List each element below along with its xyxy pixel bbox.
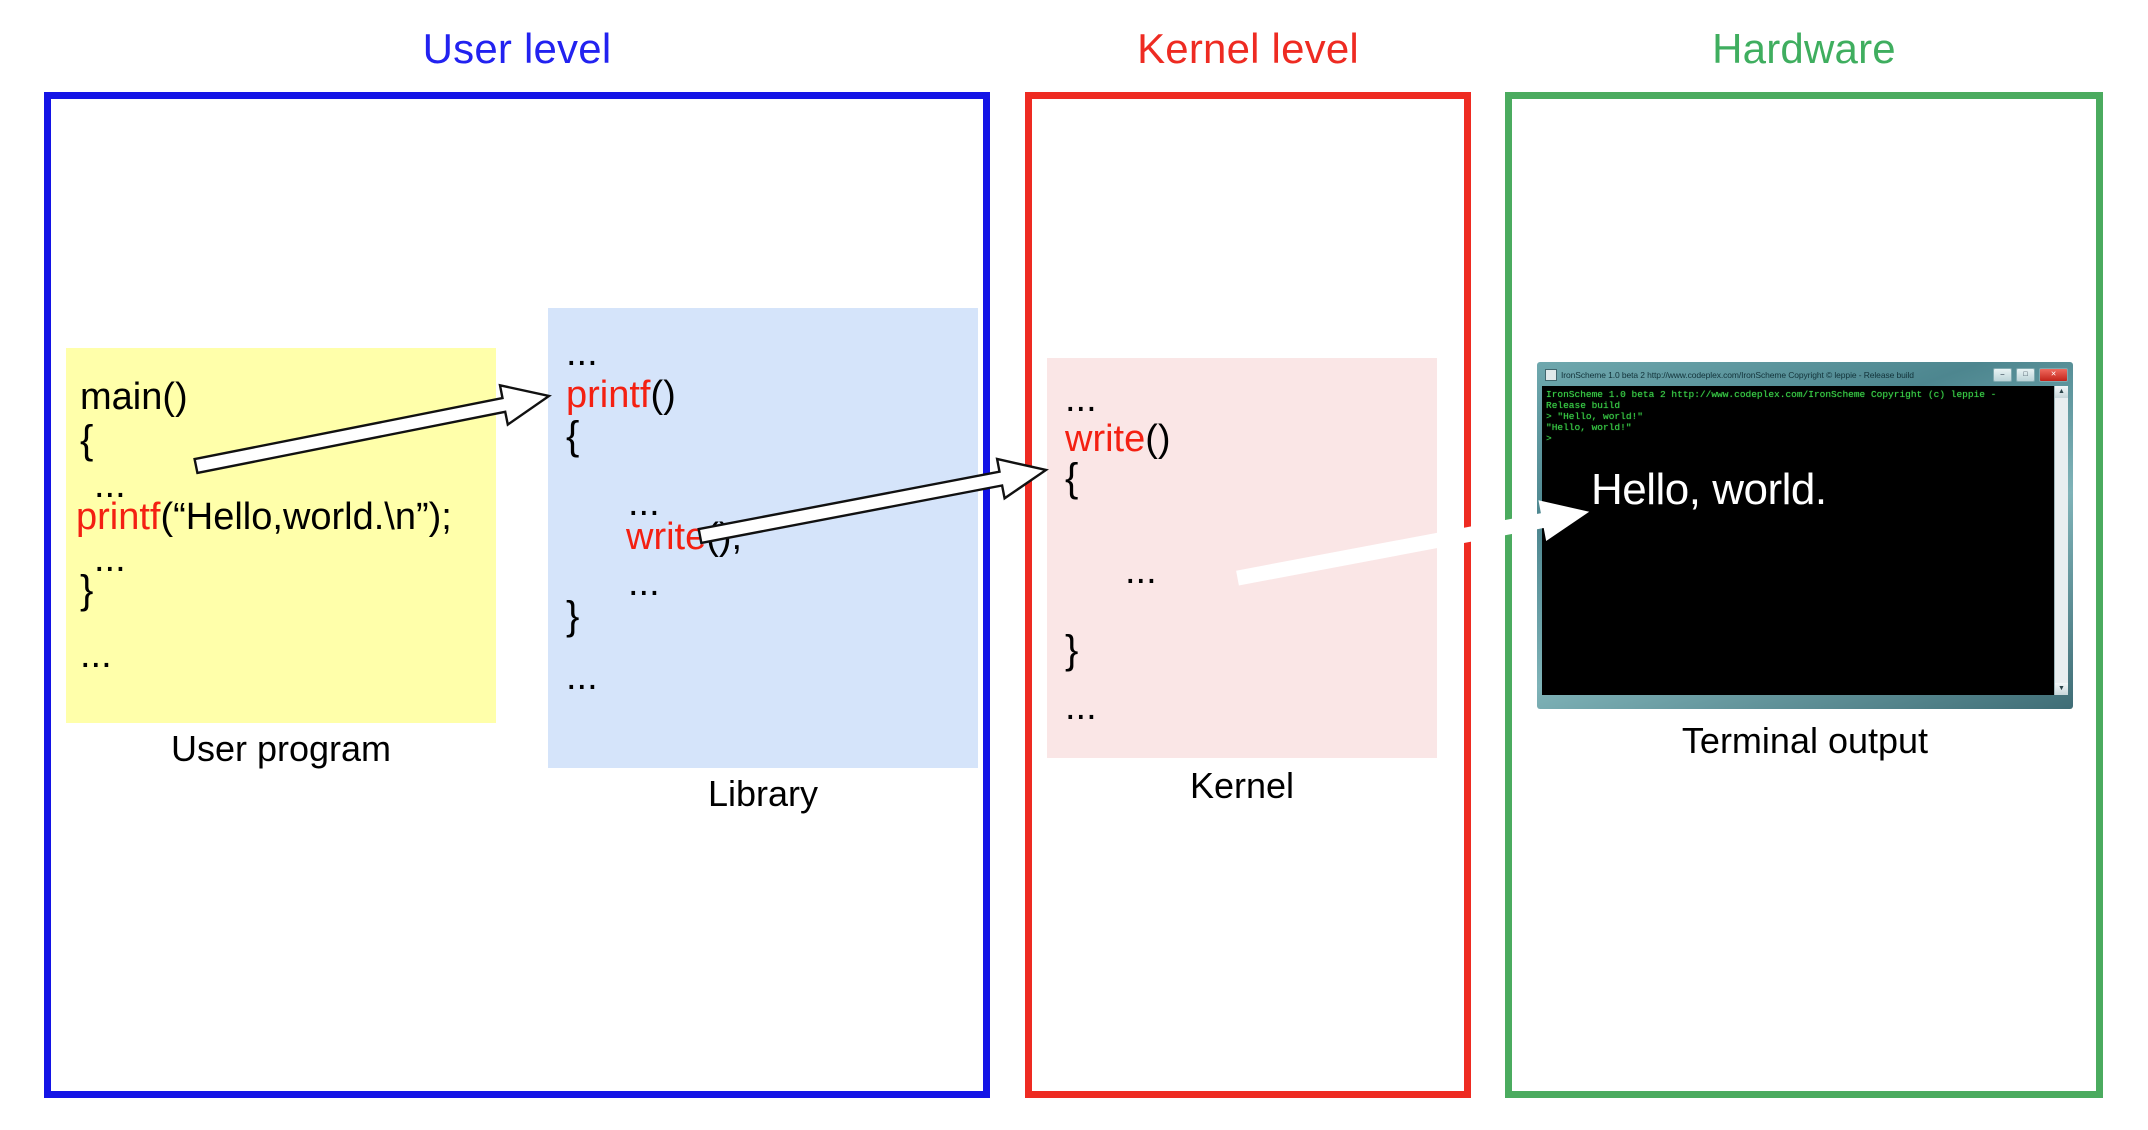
code-line: { xyxy=(80,420,93,460)
keyword-printf: printf xyxy=(76,496,160,538)
terminal-line: > xyxy=(1546,433,2050,444)
code-line: ... xyxy=(94,540,126,578)
code-line-write-def: write() xyxy=(1065,420,1171,458)
library-code-panel: ... printf() { ... write(); ... } ... xyxy=(548,308,978,768)
scroll-up-icon[interactable]: ▲ xyxy=(2055,386,2068,398)
section-title-user-level: User level xyxy=(44,28,990,70)
code-line: ... xyxy=(628,564,660,602)
terminal-line: IronScheme 1.0 beta 2 http://www.codeple… xyxy=(1546,389,2050,400)
section-title-kernel-level: Kernel level xyxy=(1025,28,1471,70)
kernel-code-panel: ... write() { ... } ... xyxy=(1047,358,1437,758)
terminal-app-icon xyxy=(1545,369,1557,381)
terminal-window-title: IronScheme 1.0 beta 2 http://www.codeple… xyxy=(1561,370,1989,380)
terminal-window-screenshot: IronScheme 1.0 beta 2 http://www.codeple… xyxy=(1537,362,2073,709)
close-button[interactable]: ✕ xyxy=(2039,368,2068,382)
code-line: { xyxy=(566,416,579,456)
kernel-label: Kernel xyxy=(1047,768,1437,804)
code-line-printf-def: printf() xyxy=(566,376,676,414)
code-line-write-call: write(); xyxy=(626,518,742,556)
code-line: } xyxy=(1065,630,1078,670)
code-line: ... xyxy=(566,334,598,372)
code-line-printf-call: printf(“Hello,world.\n”); xyxy=(76,498,452,536)
code-line: } xyxy=(566,596,579,636)
code-line: ... xyxy=(566,658,598,696)
minimize-button[interactable]: – xyxy=(1993,368,2012,382)
code-line: } xyxy=(80,570,93,610)
terminal-line: Release build xyxy=(1546,400,2050,411)
terminal-output-label: Terminal output xyxy=(1537,723,2073,759)
section-title-hardware: Hardware xyxy=(1505,28,2103,70)
library-label: Library xyxy=(548,776,978,812)
terminal-text-area: IronScheme 1.0 beta 2 http://www.codeple… xyxy=(1542,386,2054,695)
code-line: { xyxy=(1065,458,1078,498)
code-line: ... xyxy=(1125,552,1157,590)
user-program-code-panel: main() { ... printf(“Hello,world.\n”); .… xyxy=(66,348,496,723)
keyword-write: write xyxy=(626,516,706,558)
user-program-label: User program xyxy=(66,731,496,767)
terminal-scrollbar[interactable]: ▲ ▼ xyxy=(2054,386,2068,695)
scroll-down-icon[interactable]: ▼ xyxy=(2055,683,2068,695)
keyword-write: write xyxy=(1065,418,1145,460)
terminal-titlebar: IronScheme 1.0 beta 2 http://www.codeple… xyxy=(1542,366,2068,384)
terminal-screen: IronScheme 1.0 beta 2 http://www.codeple… xyxy=(1542,386,2068,695)
terminal-output-overlay-text: Hello, world. xyxy=(1591,468,1827,512)
code-line: ... xyxy=(1065,688,1097,726)
keyword-printf: printf xyxy=(566,374,650,416)
code-line: ... xyxy=(1065,380,1097,418)
code-line: main() xyxy=(80,378,188,416)
maximize-button[interactable]: □ xyxy=(2016,368,2035,382)
terminal-line: "Hello, world!" xyxy=(1546,422,2050,433)
code-line: ... xyxy=(80,636,112,674)
terminal-line: > "Hello, world!" xyxy=(1546,411,2050,422)
